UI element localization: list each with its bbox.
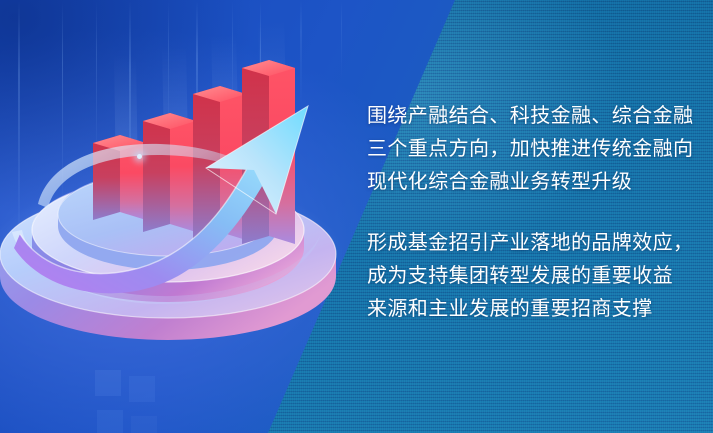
paragraph-1-line-3: 现代化综合金融业务转型升级 <box>367 166 687 199</box>
paragraph-2-line-1: 形成基金招引产业落地的品牌效应， <box>367 227 687 260</box>
paragraph-2: 形成基金招引产业落地的品牌效应， 成为支持集团转型发展的重要收益 来源和主业发展… <box>367 227 687 326</box>
bar-2 <box>143 113 196 232</box>
copy-block: 围绕产融结合、科技金融、综合金融 三个重点方向，加快推进传统金融向 现代化综合金… <box>367 100 687 326</box>
banner-root: 围绕产融结合、科技金融、综合金融 三个重点方向，加快推进传统金融向 现代化综合金… <box>0 0 713 433</box>
paragraph-2-line-2: 成为支持集团转型发展的重要收益 <box>367 260 687 293</box>
paragraph-1: 围绕产融结合、科技金融、综合金融 三个重点方向，加快推进传统金融向 现代化综合金… <box>367 100 687 199</box>
growth-chart-illustration <box>0 18 350 348</box>
sparkle-dot <box>137 154 142 159</box>
paragraph-2-line-3: 来源和主业发展的重要招商支撑 <box>367 293 687 326</box>
paragraph-1-line-1: 围绕产融结合、科技金融、综合金融 <box>367 100 687 133</box>
paragraph-1-line-2: 三个重点方向，加快推进传统金融向 <box>367 133 687 166</box>
